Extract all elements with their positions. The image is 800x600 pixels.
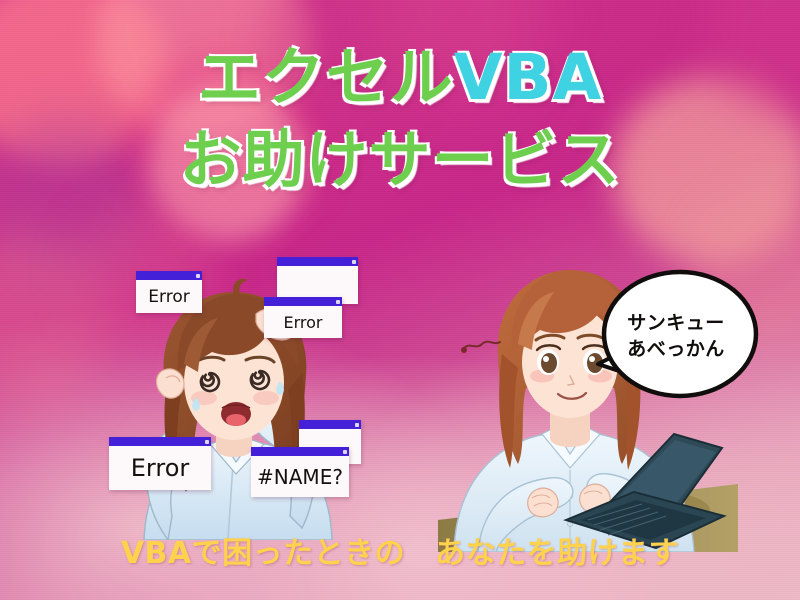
- dialog-titlebar: [109, 437, 211, 446]
- error-dialog[interactable]: Error: [264, 297, 342, 338]
- dialog-message: #NAME?: [251, 456, 349, 497]
- dialog-titlebar: [251, 447, 349, 456]
- close-icon[interactable]: [205, 440, 209, 444]
- name-error-dialog[interactable]: #NAME?: [251, 447, 349, 497]
- close-icon[interactable]: [352, 260, 356, 264]
- dialog-message: Error: [136, 280, 202, 313]
- speech-bubble-text: サンキュー あべっかん: [592, 268, 760, 404]
- error-dialog[interactable]: Error: [136, 271, 202, 313]
- speech-line-1: サンキュー: [627, 312, 725, 334]
- dialog-titlebar: [136, 271, 202, 280]
- banner-canvas: エクセルVBA お助けサービス: [0, 0, 800, 600]
- dialog-titlebar: [277, 257, 358, 266]
- close-icon[interactable]: [355, 423, 359, 427]
- dialog-titlebar: [264, 297, 342, 306]
- speech-line-2: あべっかん: [627, 338, 725, 360]
- dialog-message: Error: [109, 446, 211, 490]
- dialog-titlebar: [299, 420, 361, 429]
- dialog-message: Error: [264, 306, 342, 338]
- speech-bubble: サンキュー あべっかん: [592, 268, 760, 404]
- close-icon[interactable]: [196, 274, 200, 278]
- close-icon[interactable]: [336, 300, 340, 304]
- error-dialog[interactable]: Error: [109, 437, 211, 490]
- close-icon[interactable]: [343, 450, 347, 454]
